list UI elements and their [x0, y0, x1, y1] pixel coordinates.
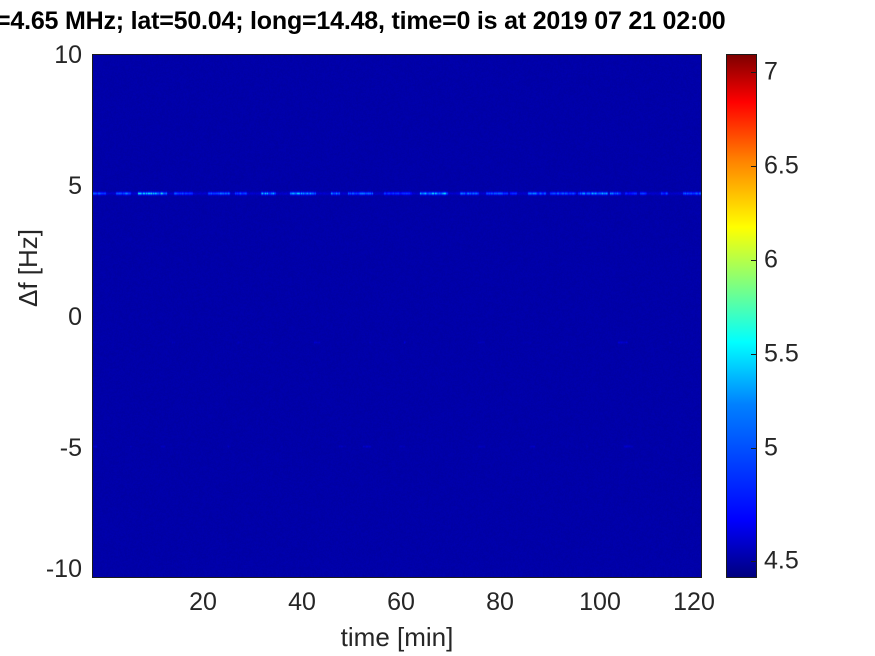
y-axis-label: Δf [Hz]: [15, 178, 41, 358]
x-tick-label-60: 60: [387, 590, 415, 615]
colorbar-tick-5-5: 5.5: [764, 342, 799, 367]
colorbar-tick-5: 5: [764, 436, 778, 461]
x-axis-label: time [min]: [92, 624, 702, 650]
colorbar-tick-7: 7: [764, 60, 778, 85]
heatmap-axes[interactable]: [92, 54, 702, 578]
colorbar-tick-4-5: 4.5: [764, 549, 799, 574]
x-tick-label-80: 80: [486, 590, 514, 615]
x-tick-label-120: 120: [673, 590, 715, 615]
x-tick-label-20: 20: [189, 590, 217, 615]
colorbar[interactable]: [726, 54, 757, 578]
y-tick-label-neg5: -5: [0, 436, 82, 461]
plot-title: =4.65 MHz; lat=50.04; long=14.48, time=0…: [0, 9, 875, 34]
y-tick-label-group: 10 5 0 -5 -10: [0, 0, 82, 656]
colorbar-gradient: [727, 55, 756, 577]
x-tick-label-40: 40: [288, 590, 316, 615]
spectrogram-canvas: [92, 54, 702, 578]
y-tick-label-neg10: -10: [0, 557, 82, 582]
y-tick-label-0: 0: [0, 305, 82, 330]
matlab-figure: =4.65 MHz; lat=50.04; long=14.48, time=0…: [0, 0, 875, 656]
colorbar-tick-6: 6: [764, 248, 778, 273]
x-tick-label-100: 100: [579, 590, 621, 615]
y-tick-label-10: 10: [0, 43, 82, 68]
colorbar-tick-6-5: 6.5: [764, 154, 799, 179]
y-tick-label-5: 5: [0, 174, 82, 199]
